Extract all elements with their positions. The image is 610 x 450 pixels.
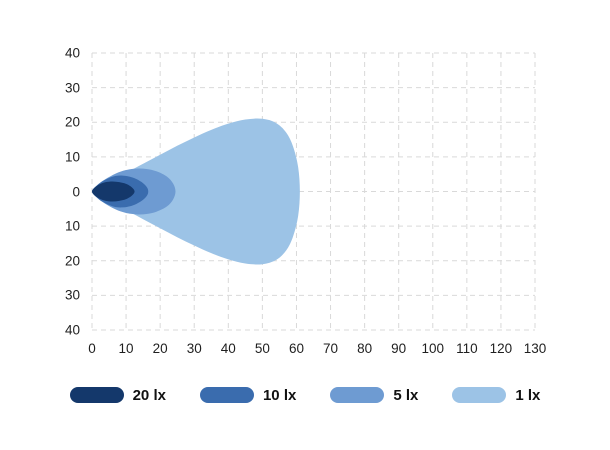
x-tick-label: 60 — [289, 342, 304, 356]
legend-swatch — [200, 387, 254, 403]
y-tick-label: 40 — [36, 46, 80, 60]
legend-item[interactable]: 10 lx — [200, 387, 296, 404]
y-tick-label: 40 — [36, 323, 80, 337]
x-tick-label: 20 — [153, 342, 168, 356]
x-tick-label: 10 — [119, 342, 134, 356]
legend-swatch — [70, 387, 124, 403]
legend-item[interactable]: 20 lx — [70, 387, 166, 404]
legend-label: 1 lx — [515, 387, 540, 404]
x-tick-label: 80 — [357, 342, 372, 356]
legend-swatch — [330, 387, 384, 403]
legend-label: 5 lx — [393, 387, 418, 404]
x-tick-label: 70 — [323, 342, 338, 356]
plot-area: 40302010010203040 0102030405060708090100… — [0, 0, 610, 370]
legend-item[interactable]: 1 lx — [452, 387, 540, 404]
legend-label: 20 lx — [133, 387, 166, 404]
plot-svg — [0, 0, 610, 370]
beam-pattern-chart: 40302010010203040 0102030405060708090100… — [0, 0, 610, 450]
beam-series-group — [92, 119, 300, 265]
y-tick-label: 20 — [36, 254, 80, 268]
legend-item[interactable]: 5 lx — [330, 387, 418, 404]
legend-swatch — [452, 387, 506, 403]
x-tick-label: 50 — [255, 342, 270, 356]
y-tick-label: 30 — [36, 81, 80, 95]
x-tick-label: 120 — [490, 342, 513, 356]
x-tick-label: 130 — [524, 342, 547, 356]
y-tick-label: 10 — [36, 219, 80, 233]
y-tick-label: 10 — [36, 150, 80, 164]
chart-legend: 20 lx10 lx5 lx1 lx — [0, 370, 610, 420]
x-tick-label: 0 — [88, 342, 96, 356]
x-tick-label: 100 — [422, 342, 445, 356]
y-tick-label: 30 — [36, 289, 80, 303]
x-tick-label: 110 — [456, 342, 478, 356]
x-tick-label: 30 — [187, 342, 202, 356]
y-tick-label: 20 — [36, 116, 80, 130]
y-tick-label: 0 — [36, 185, 80, 199]
x-tick-label: 40 — [221, 342, 236, 356]
legend-label: 10 lx — [263, 387, 296, 404]
x-tick-label: 90 — [391, 342, 406, 356]
